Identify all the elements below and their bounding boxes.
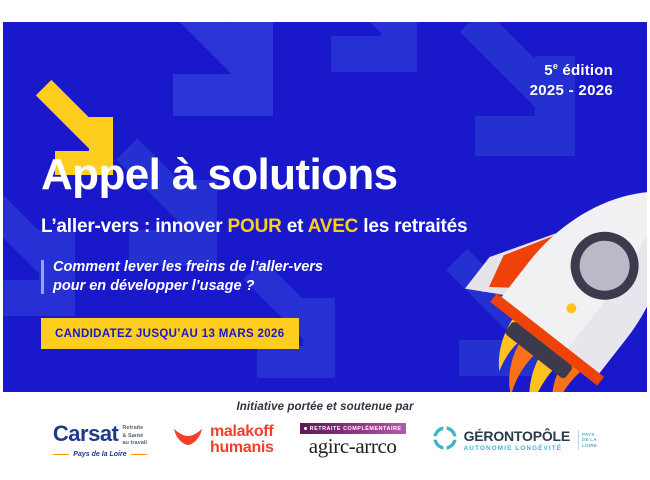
agirc-bullet-icon <box>304 427 307 430</box>
partner-logos: Carsat Retraite & Santé au travail Pays … <box>0 423 650 458</box>
edition-label: 5e édition <box>530 60 613 81</box>
carsat-main-row: Carsat Retraite & Santé au travail <box>53 423 147 448</box>
edition-word: édition <box>558 62 613 79</box>
gerontopole-region: PAYS DE LA LOIRE <box>578 430 597 450</box>
agirc-banner-label: RETRAITE COMPLÉMENTAIRE <box>310 426 402 432</box>
carsat-region-label: Pays de la Loire <box>73 451 126 458</box>
carsat-rule-left <box>53 454 69 455</box>
carsat-tagline-line-2: & Santé <box>122 433 147 441</box>
footer-caption: Initiative portée et soutenue par <box>0 392 650 413</box>
poster-root: 5e édition 2025 - 2026 <box>0 0 650 480</box>
agirc-wordmark: agirc-arrco <box>300 435 406 457</box>
subtitle-part-2: et <box>282 216 308 237</box>
logo-agirc-arrco[interactable]: RETRAITE COMPLÉMENTAIRE agirc-arrco <box>300 423 406 457</box>
hero-copy: Appel à solutions L’aller-vers : innover… <box>41 152 511 349</box>
subtitle-part-3: les retraités <box>358 216 467 237</box>
question-line-2: pour en développer l’usage ? <box>53 277 511 296</box>
malakoff-wordmark: malakoff humanis <box>210 424 274 456</box>
apply-cta-button[interactable]: CANDIDATEZ JUSQU’AU 13 MARS 2026 <box>41 318 299 349</box>
carsat-tagline-line-1: Retraite <box>122 425 147 433</box>
carsat-tagline-line-3: au travail <box>122 440 147 448</box>
hero-question: Comment lever les freins de l’aller-vers… <box>41 258 511 296</box>
edition-years: 2025 - 2026 <box>530 81 613 101</box>
gerontopole-tagline: AUTONOMIE LONGÉVITÉ <box>464 445 570 452</box>
background-arrow-decor-1 <box>143 22 283 142</box>
gerontopole-wordmark: GÉRONTOPÔLE AUTONOMIE LONGÉVITÉ <box>464 429 570 452</box>
subtitle-highlight-avec: AVEC <box>308 216 359 237</box>
hero-subtitle: L’aller-vers : innover POUR et AVEC les … <box>41 216 511 238</box>
carsat-wordmark: Carsat <box>53 423 118 445</box>
subtitle-highlight-pour: POUR <box>228 216 282 237</box>
logo-gerontopole[interactable]: GÉRONTOPÔLE AUTONOMIE LONGÉVITÉ PAYS DE … <box>432 425 598 456</box>
question-line-1: Comment lever les freins de l’aller-vers <box>53 258 511 277</box>
gerontopole-name: GÉRONTOPÔLE <box>464 429 570 443</box>
hero-panel: 5e édition 2025 - 2026 <box>3 22 647 392</box>
logo-carsat[interactable]: Carsat Retraite & Santé au travail Pays … <box>53 423 147 458</box>
carsat-region-row: Pays de la Loire <box>53 451 147 458</box>
logo-malakoff-humanis[interactable]: malakoff humanis <box>173 424 274 456</box>
edition-block: 5e édition 2025 - 2026 <box>530 60 613 102</box>
subtitle-part-1: L’aller-vers : innover <box>41 216 228 237</box>
question-accent-bar <box>41 260 44 294</box>
page-title: Appel à solutions <box>41 152 511 198</box>
gerontopole-circle-icon <box>432 425 458 456</box>
agirc-banner: RETRAITE COMPLÉMENTAIRE <box>300 423 406 434</box>
malakoff-line-1: malakoff <box>210 424 274 440</box>
malakoff-line-2: humanis <box>210 440 274 456</box>
malakoff-smile-icon <box>173 427 203 454</box>
carsat-tagline: Retraite & Santé au travail <box>122 423 147 448</box>
footer-panel: Initiative portée et soutenue par Carsat… <box>0 392 650 480</box>
background-arrow-decor-2 <box>303 22 433 112</box>
carsat-rule-right <box>131 454 147 455</box>
gerontopole-region-line-3: LOIRE <box>582 443 597 449</box>
edition-number: 5 <box>544 62 553 79</box>
